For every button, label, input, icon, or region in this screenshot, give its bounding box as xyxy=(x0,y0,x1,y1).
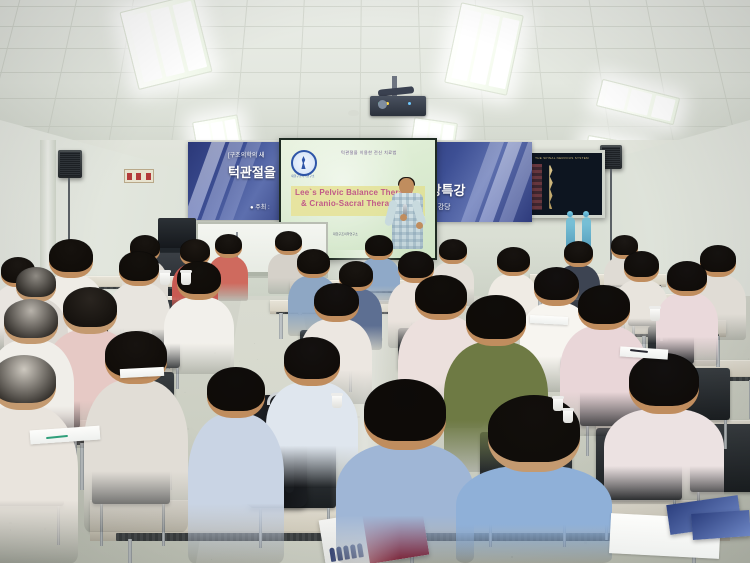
hair xyxy=(180,239,210,262)
attendee-fg3 xyxy=(188,368,284,563)
presenter-hand-2 xyxy=(416,222,423,229)
hair xyxy=(398,251,434,278)
hair xyxy=(488,395,580,462)
hair xyxy=(207,367,265,411)
desk-leg xyxy=(128,539,132,563)
torso xyxy=(84,380,188,532)
paper-cup-5 xyxy=(563,410,573,423)
cup-lid xyxy=(552,396,564,399)
poster-spine-figure xyxy=(548,165,554,209)
paper-cup-6 xyxy=(650,308,660,321)
wall-speaker-left xyxy=(58,150,82,178)
slide-title-line2: & Cranio-Sacral Therapy xyxy=(301,199,399,208)
attendee-fg2 xyxy=(456,396,612,563)
hair xyxy=(339,261,373,287)
hair xyxy=(624,251,659,277)
attendee-fg5 xyxy=(0,356,78,563)
banner-left-host: ● 주최 : xyxy=(250,202,270,211)
hair xyxy=(667,261,707,291)
paper-cup-1 xyxy=(160,272,170,285)
institute-logo-icon xyxy=(291,150,317,176)
ceiling xyxy=(0,0,750,150)
paper-cup-3 xyxy=(332,395,342,408)
slide-header-text: 턱관절을 이용한 전신 치료법 xyxy=(341,150,397,156)
smoke-detector-icon xyxy=(348,110,359,116)
hair xyxy=(564,241,593,263)
hair xyxy=(215,234,242,254)
torso xyxy=(456,466,612,563)
attendee-fg1 xyxy=(336,380,474,563)
cup-lid xyxy=(180,270,192,273)
blue-booklet-2 xyxy=(691,510,750,540)
chair-leg xyxy=(724,420,727,449)
projector-lens-icon xyxy=(378,100,387,109)
presenter-head xyxy=(399,178,414,194)
hair xyxy=(119,251,159,281)
torso xyxy=(604,409,724,504)
torso xyxy=(188,414,284,563)
hair xyxy=(0,355,56,403)
paper-cup-2 xyxy=(181,272,191,285)
banner-left-headline: 턱관절을 xyxy=(228,162,276,181)
poster-title: THE SPINAL NERVOUS SYSTEM xyxy=(522,156,602,160)
fire-extinguisher-sign-icon xyxy=(124,169,154,183)
hair xyxy=(364,379,446,441)
slide-footer-text: 대한구조의학연구소 xyxy=(333,232,358,236)
hair xyxy=(297,249,330,274)
cup-lid xyxy=(649,306,661,309)
torso xyxy=(336,444,474,563)
hair xyxy=(629,353,699,406)
cup-lid xyxy=(159,270,171,273)
hair xyxy=(284,337,340,379)
desk-leg xyxy=(279,313,283,339)
hair xyxy=(466,295,526,339)
ceiling-tile-grid xyxy=(0,0,750,150)
slide-logo-caption: 대한구조의학연구소 xyxy=(285,174,321,178)
cup-lid xyxy=(331,393,343,396)
hair xyxy=(275,231,302,251)
banner-left-bracket: [구조의학의 새 xyxy=(228,150,264,159)
lecture-hall-photo: THE SPINAL NERVOUS SYSTEM [구조의학의 새 턱관절을 … xyxy=(0,0,750,563)
hair xyxy=(4,299,58,338)
hair xyxy=(578,285,630,324)
attendee-fg4 xyxy=(604,354,724,504)
cup-lid xyxy=(562,408,574,411)
hair xyxy=(314,283,359,316)
presenter-hand xyxy=(400,214,407,221)
